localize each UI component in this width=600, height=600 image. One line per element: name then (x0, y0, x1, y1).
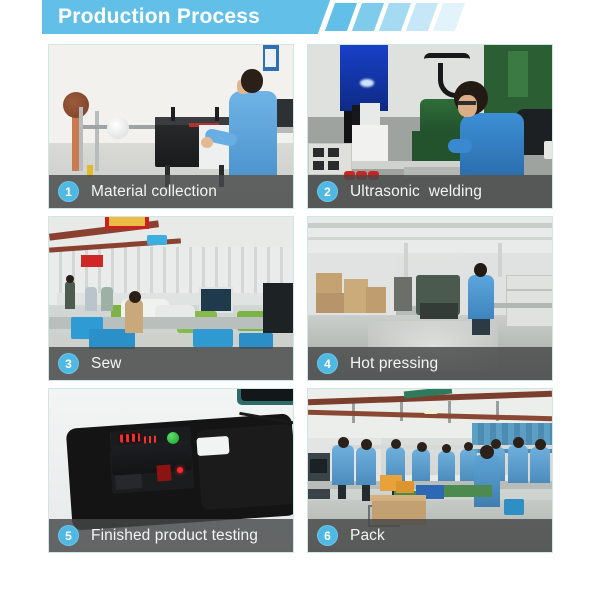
step-number-badge-1: 1 (58, 181, 79, 202)
step-label-2: Ultrasonic welding (350, 183, 482, 201)
step-number-badge-4: 4 (317, 353, 338, 374)
step-caption-3: 3 Sew (49, 347, 293, 380)
step-caption-6: 6 Pack (308, 519, 552, 552)
step-label-5: Finished product testing (91, 527, 258, 545)
step-label-6: Pack (350, 527, 385, 545)
header-banner: Production Process (42, 0, 600, 34)
step-number-badge-6: 6 (317, 525, 338, 546)
step-number-badge-5: 5 (58, 525, 79, 546)
step-label-1: Material collection (91, 183, 217, 201)
step-caption-1: 1 Material collection (49, 175, 293, 208)
step-caption-4: 4 Hot pressing (308, 347, 552, 380)
step-label-4: Hot pressing (350, 355, 438, 373)
process-step-card-6[interactable]: 6 Pack (307, 388, 553, 553)
step-caption-5: 5 Finished product testing (49, 519, 293, 552)
process-step-card-1[interactable]: 1 Material collection (48, 44, 294, 209)
step-label-3: Sew (91, 355, 121, 373)
process-step-card-4[interactable]: 4 Hot pressing (307, 216, 553, 381)
process-step-card-2[interactable]: 2 Ultrasonic welding (307, 44, 553, 209)
step-number-badge-3: 3 (58, 353, 79, 374)
page-title: Production Process (58, 0, 260, 34)
step-number-badge-2: 2 (317, 181, 338, 202)
process-step-grid: 1 Material collection (48, 44, 553, 553)
process-step-card-5[interactable]: 5 Finished product testing (48, 388, 294, 553)
header-stripe-5 (433, 3, 465, 31)
step-caption-2: 2 Ultrasonic welding (308, 175, 552, 208)
production-process-infographic: Production Process (0, 0, 600, 600)
process-step-card-3[interactable]: 3 Sew (48, 216, 294, 381)
